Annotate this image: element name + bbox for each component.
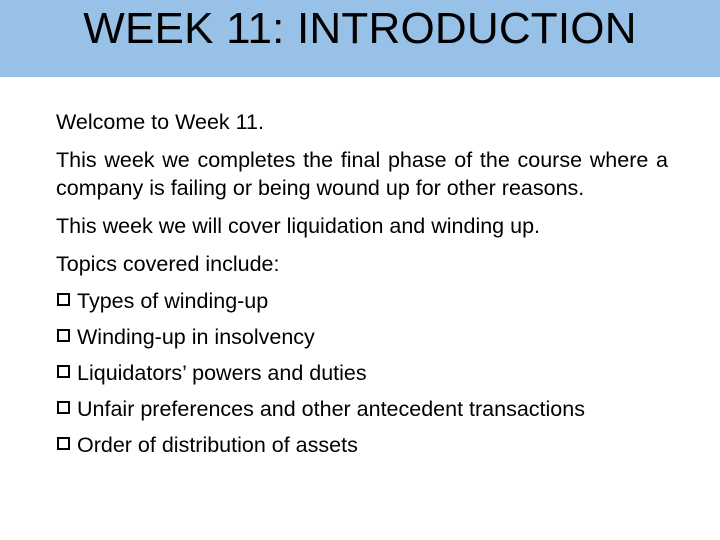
list-item: Liquidators’ powers and duties: [56, 360, 668, 386]
slide-body: Welcome to Week 11. This week we complet…: [56, 108, 668, 468]
body-paragraph-overview: This week we completes the final phase o…: [56, 146, 668, 202]
hollow-square-bullet-icon: [57, 329, 70, 342]
page-title: WEEK 11: INTRODUCTION: [0, 3, 720, 55]
body-paragraph-topics-intro: Topics covered include:: [56, 250, 668, 278]
list-item: Types of winding-up: [56, 288, 668, 314]
hollow-square-bullet-icon: [57, 293, 70, 306]
list-item-label: Unfair preferences and other antecedent …: [77, 397, 585, 421]
list-item-label: Types of winding-up: [77, 289, 268, 313]
list-item-label: Order of distribution of assets: [77, 433, 358, 457]
list-item: Winding-up in insolvency: [56, 324, 668, 350]
hollow-square-bullet-icon: [57, 437, 70, 450]
slide-title-bar: WEEK 11: INTRODUCTION: [0, 0, 720, 77]
hollow-square-bullet-icon: [57, 401, 70, 414]
topics-list: Types of winding-up Winding-up in insolv…: [56, 288, 668, 458]
body-paragraph-welcome: Welcome to Week 11.: [56, 108, 668, 136]
presentation-slide: WEEK 11: INTRODUCTION Welcome to Week 11…: [0, 0, 720, 540]
list-item-label: Liquidators’ powers and duties: [77, 361, 367, 385]
list-item: Unfair preferences and other antecedent …: [56, 396, 668, 422]
list-item-label: Winding-up in insolvency: [77, 325, 315, 349]
list-item: Order of distribution of assets: [56, 432, 668, 458]
hollow-square-bullet-icon: [57, 365, 70, 378]
body-paragraph-coverage: This week we will cover liquidation and …: [56, 212, 668, 240]
